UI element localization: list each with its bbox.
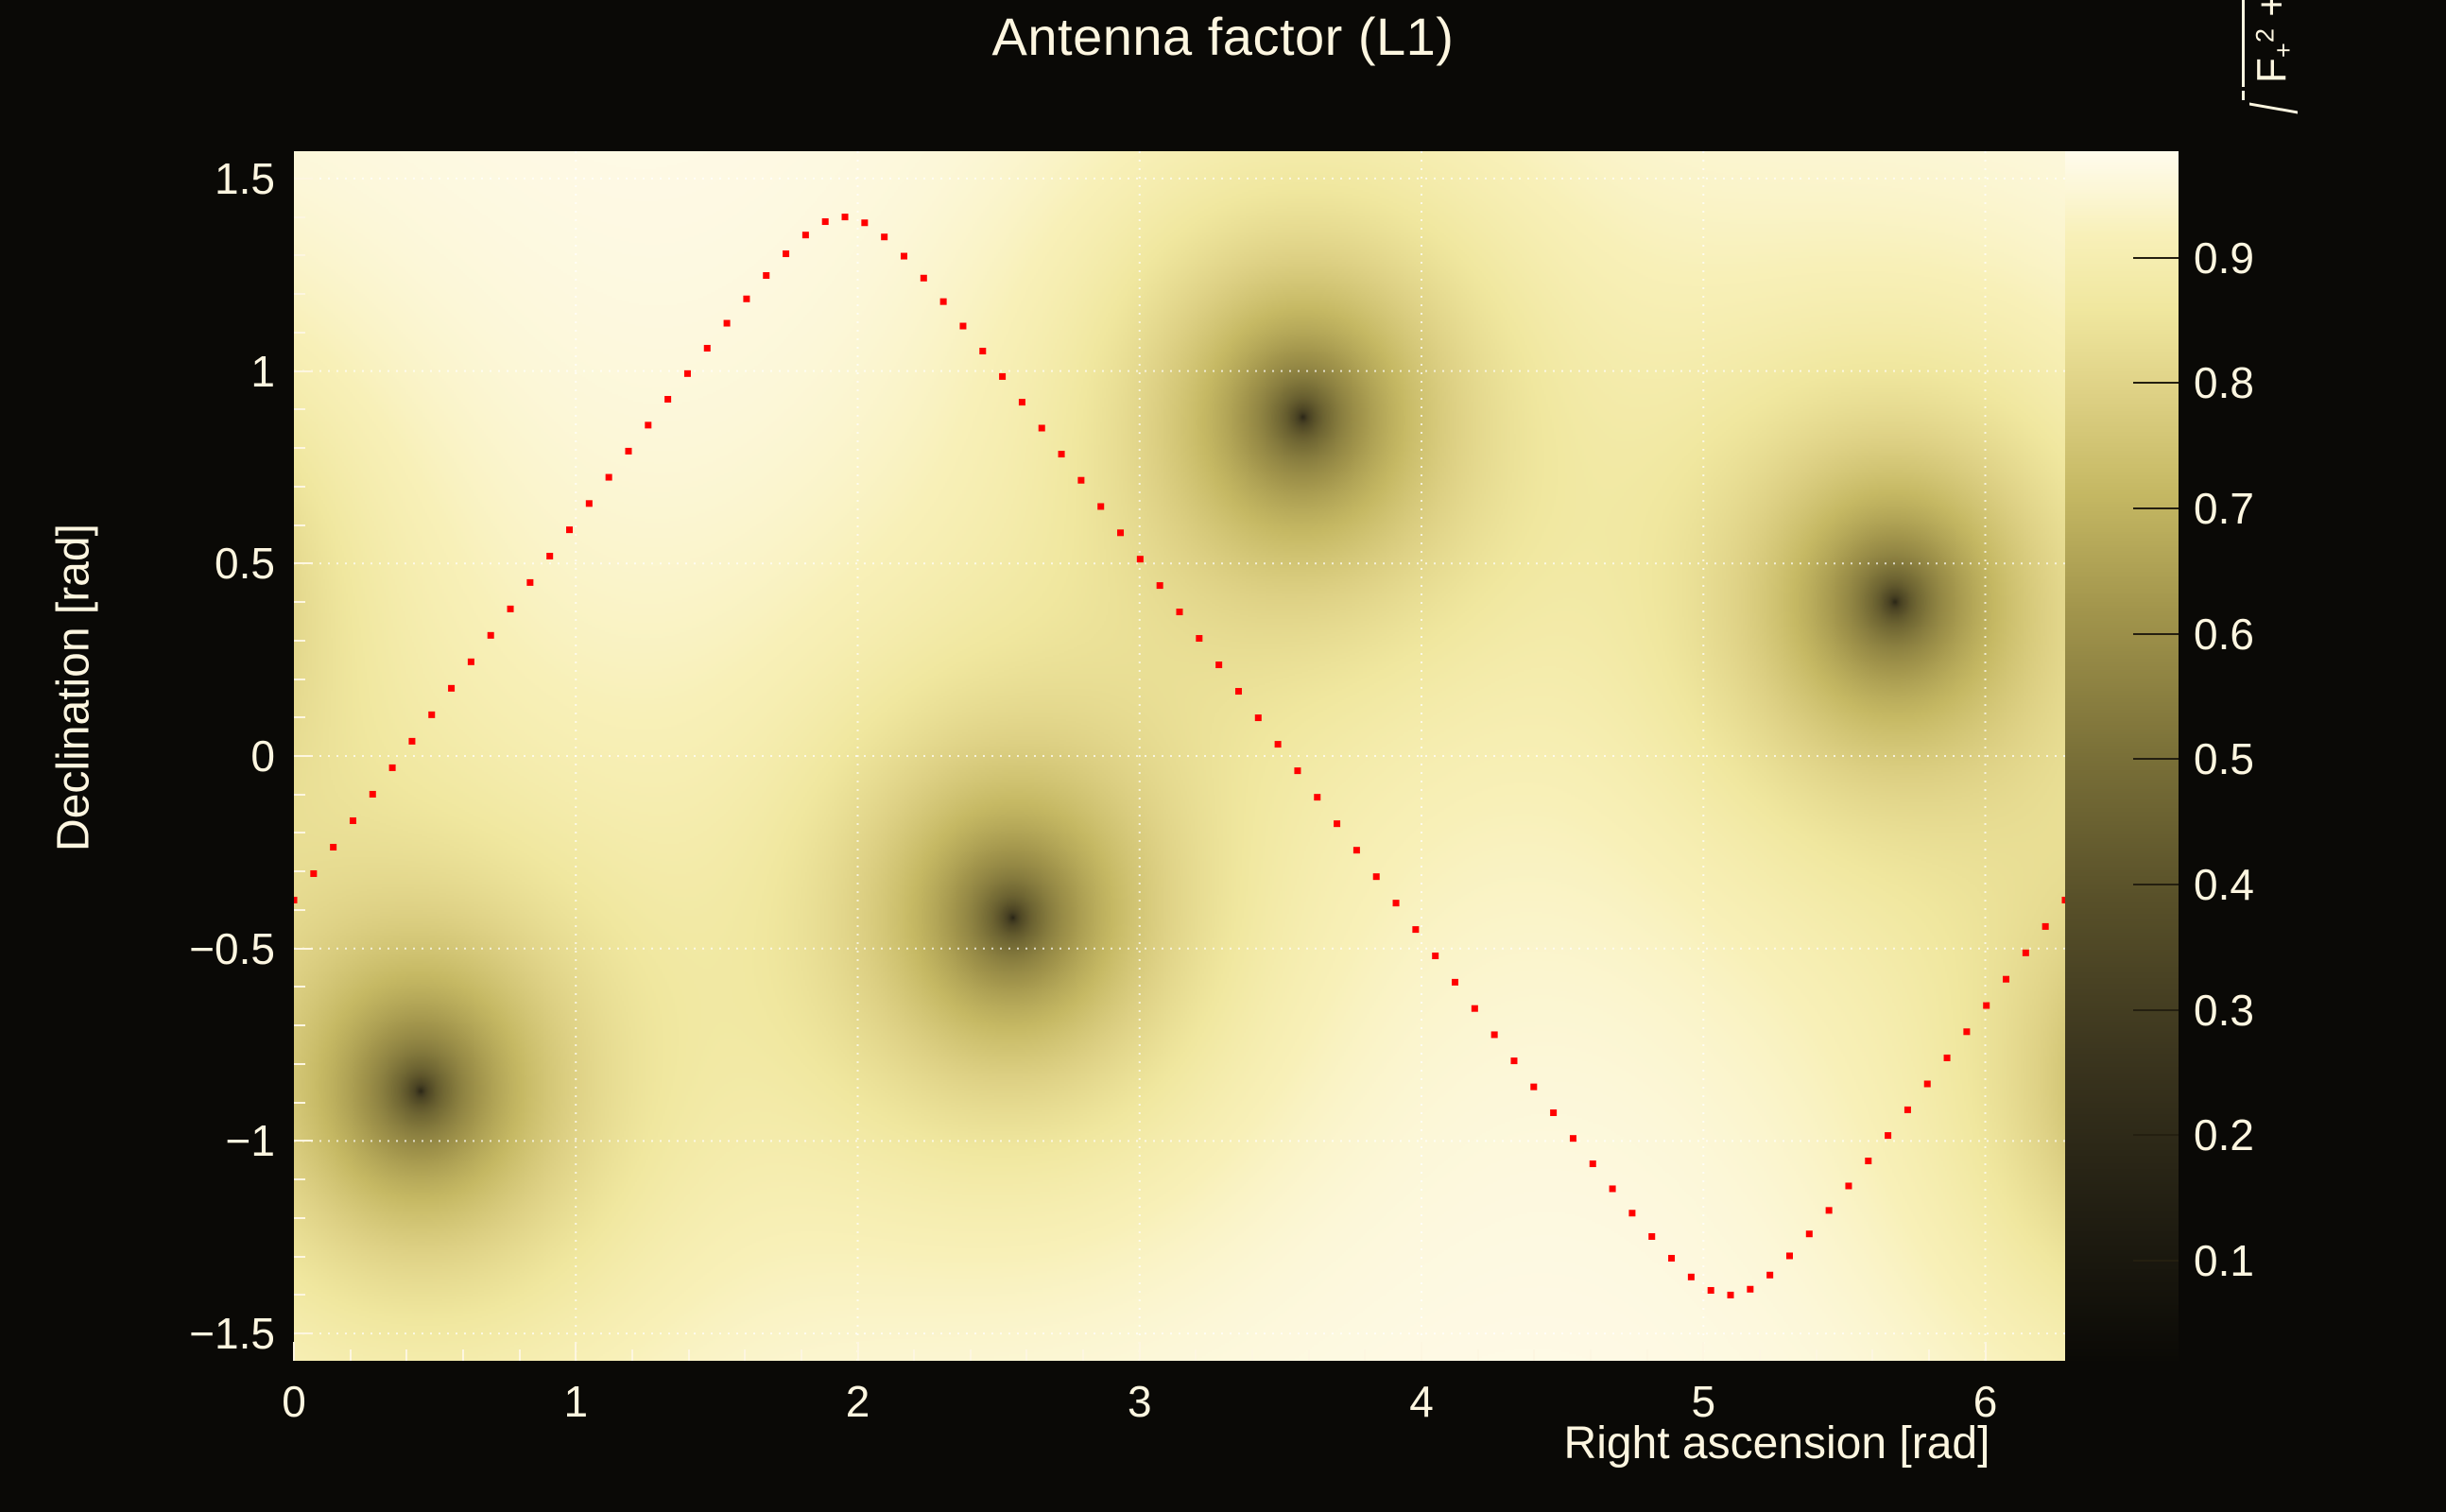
colorbar-tick-mark bbox=[2133, 758, 2179, 760]
x-tick-major bbox=[1985, 1342, 1987, 1361]
x-tick-minor bbox=[1928, 1349, 1930, 1361]
y-tick-label: 1.5 bbox=[20, 153, 275, 204]
y-tick-label: −1.5 bbox=[20, 1308, 275, 1359]
x-tick-minor bbox=[688, 1349, 690, 1361]
x-tick-major bbox=[1421, 1342, 1422, 1361]
y-tick-minor bbox=[294, 1256, 305, 1258]
colorbar-tick-mark bbox=[2133, 382, 2179, 384]
x-tick-major bbox=[575, 1342, 577, 1361]
colorbar-tick-mark bbox=[2133, 884, 2179, 885]
z-term1: F bbox=[2248, 58, 2295, 83]
y-tick-minor bbox=[294, 716, 305, 718]
chart-canvas: Antenna factor (L1) −1.5−1−0.500.511.501… bbox=[0, 0, 2446, 1512]
y-tick-major bbox=[294, 370, 313, 372]
x-tick-minor bbox=[350, 1349, 352, 1361]
y-tick-major bbox=[294, 1332, 313, 1334]
y-tick-minor bbox=[294, 601, 305, 603]
colorbar-gradient bbox=[2065, 151, 2179, 1361]
colorbar-tick-mark bbox=[2133, 1134, 2179, 1136]
y-tick-minor bbox=[294, 216, 305, 218]
colorbar-tick-mark bbox=[2133, 633, 2179, 635]
x-tick-minor bbox=[1533, 1349, 1535, 1361]
x-tick-minor bbox=[519, 1349, 521, 1361]
x-tick-minor bbox=[1759, 1349, 1761, 1361]
y-tick-minor bbox=[294, 408, 305, 410]
x-tick-minor bbox=[1646, 1349, 1648, 1361]
colorbar-tick-label: 0.1 bbox=[2194, 1235, 2254, 1286]
y-tick-major bbox=[294, 948, 313, 950]
x-tick-major bbox=[1702, 1342, 1704, 1361]
sqrt-icon: F+2 + Fx2 bbox=[2242, 0, 2299, 113]
y-tick-minor bbox=[294, 1024, 305, 1026]
x-tick-minor bbox=[1477, 1349, 1479, 1361]
y-tick-minor bbox=[294, 1294, 305, 1296]
x-tick-minor bbox=[1308, 1349, 1310, 1361]
x-tick-minor bbox=[1364, 1349, 1366, 1361]
y-tick-minor bbox=[294, 293, 305, 295]
y-tick-major bbox=[294, 562, 313, 564]
x-tick-minor bbox=[631, 1349, 633, 1361]
x-tick-label: 3 bbox=[1128, 1376, 1152, 1427]
x-tick-label: 4 bbox=[1409, 1376, 1434, 1427]
y-axis-label: Declination [rad] bbox=[48, 395, 100, 981]
colorbar-axis-label: F+2 + Fx2 bbox=[2242, 0, 2309, 113]
x-tick-minor bbox=[1816, 1349, 1817, 1361]
x-tick-minor bbox=[1082, 1349, 1084, 1361]
y-tick-major bbox=[294, 178, 313, 180]
x-tick-minor bbox=[1195, 1349, 1197, 1361]
colorbar-tick-label: 0.2 bbox=[2194, 1109, 2254, 1160]
colorbar-tick-label: 0.3 bbox=[2194, 985, 2254, 1036]
y-tick-minor bbox=[294, 1102, 305, 1104]
x-tick-major bbox=[1139, 1342, 1141, 1361]
y-tick-major bbox=[294, 755, 313, 757]
colorbar-tick-label: 0.7 bbox=[2194, 483, 2254, 534]
z-term1-sup: 2 bbox=[2250, 28, 2280, 43]
y-tick-minor bbox=[294, 332, 305, 334]
x-tick-minor bbox=[913, 1349, 915, 1361]
colorbar-tick-mark bbox=[2133, 257, 2179, 259]
y-tick-major bbox=[294, 1140, 313, 1142]
colorbar-tick-label: 0.4 bbox=[2194, 859, 2254, 910]
x-tick-minor bbox=[1251, 1349, 1253, 1361]
colorbar-tick-label: 0.5 bbox=[2194, 733, 2254, 784]
y-tick-minor bbox=[294, 832, 305, 833]
colorbar bbox=[2065, 151, 2179, 1361]
x-tick-minor bbox=[462, 1349, 464, 1361]
colorbar-tick-label: 0.6 bbox=[2194, 609, 2254, 660]
y-tick-minor bbox=[294, 679, 305, 680]
y-tick-minor bbox=[294, 486, 305, 488]
y-tick-minor bbox=[294, 909, 305, 911]
y-tick-label: −1 bbox=[20, 1115, 275, 1166]
y-tick-minor bbox=[294, 1217, 305, 1219]
colorbar-tick-mark bbox=[2133, 1260, 2179, 1262]
y-tick-minor bbox=[294, 640, 305, 642]
y-tick-minor bbox=[294, 254, 305, 256]
x-tick-minor bbox=[1025, 1349, 1027, 1361]
colorbar-tick-mark bbox=[2133, 1009, 2179, 1011]
x-tick-minor bbox=[801, 1349, 802, 1361]
x-tick-label: 2 bbox=[846, 1376, 870, 1427]
x-tick-label: 0 bbox=[282, 1376, 306, 1427]
heatmap-plot-area bbox=[294, 151, 2065, 1361]
x-tick-major bbox=[857, 1342, 859, 1361]
x-tick-label: 1 bbox=[563, 1376, 588, 1427]
y-tick-minor bbox=[294, 870, 305, 872]
z-operator: + bbox=[2248, 0, 2295, 17]
overlay-track-markers bbox=[294, 151, 2065, 1361]
z-term1-sub: + bbox=[2268, 43, 2298, 58]
x-tick-minor bbox=[970, 1349, 972, 1361]
y-tick-label: 1 bbox=[20, 346, 275, 397]
y-tick-minor bbox=[294, 986, 305, 988]
colorbar-tick-mark bbox=[2133, 507, 2179, 509]
x-tick-major bbox=[293, 1342, 295, 1361]
y-tick-minor bbox=[294, 524, 305, 526]
x-axis-label: Right ascension [rad] bbox=[1474, 1417, 2079, 1469]
y-tick-minor bbox=[294, 794, 305, 796]
x-tick-minor bbox=[1590, 1349, 1592, 1361]
colorbar-tick-label: 0.8 bbox=[2194, 357, 2254, 408]
y-tick-minor bbox=[294, 1063, 305, 1065]
y-tick-minor bbox=[294, 447, 305, 449]
x-tick-minor bbox=[1871, 1349, 1873, 1361]
x-tick-minor bbox=[744, 1349, 746, 1361]
x-tick-minor bbox=[405, 1349, 407, 1361]
page-title: Antenna factor (L1) bbox=[0, 6, 2446, 67]
y-tick-minor bbox=[294, 1178, 305, 1180]
colorbar-tick-label: 0.9 bbox=[2194, 232, 2254, 283]
